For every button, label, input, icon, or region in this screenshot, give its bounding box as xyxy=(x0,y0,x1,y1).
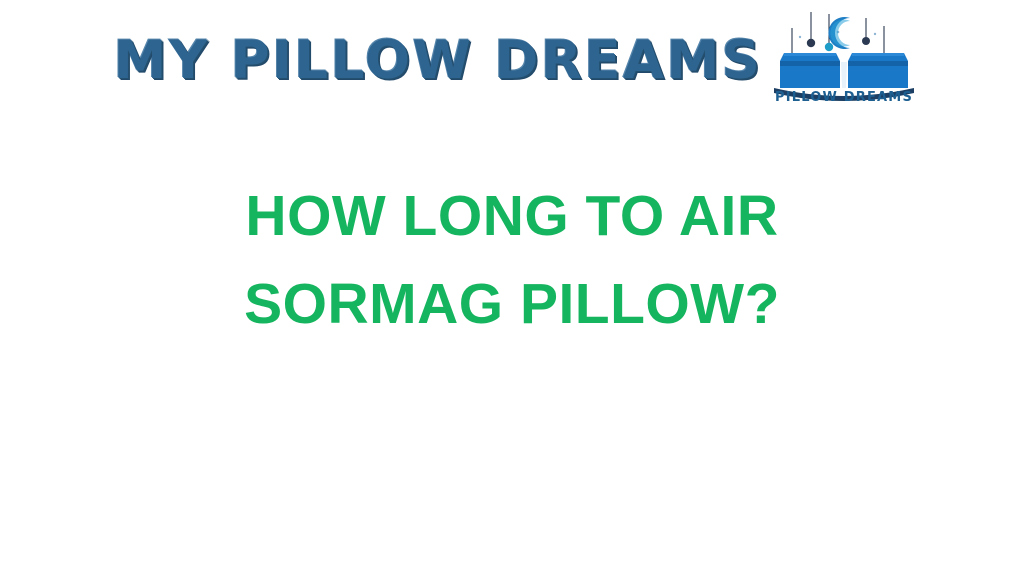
brand-title: MY PILLOW DREAMS xyxy=(118,24,758,96)
pillow-dreams-logo: PILLOW DREAMS xyxy=(766,4,922,120)
logo-wordmark: PILLOW DREAMS xyxy=(766,90,922,105)
headline: HOW LONG TO AIR SORMAG PILLOW? xyxy=(0,172,1024,348)
site-header: MY PILLOW DREAMS xyxy=(0,0,1024,125)
pillow-right-icon xyxy=(848,53,908,88)
headline-line-1: HOW LONG TO AIR xyxy=(0,172,1024,260)
page-root: MY PILLOW DREAMS xyxy=(0,0,1024,576)
pillow-left-icon xyxy=(780,53,840,88)
headline-line-2: SORMAG PILLOW? xyxy=(0,260,1024,348)
bed-sheet-gap xyxy=(841,62,847,88)
